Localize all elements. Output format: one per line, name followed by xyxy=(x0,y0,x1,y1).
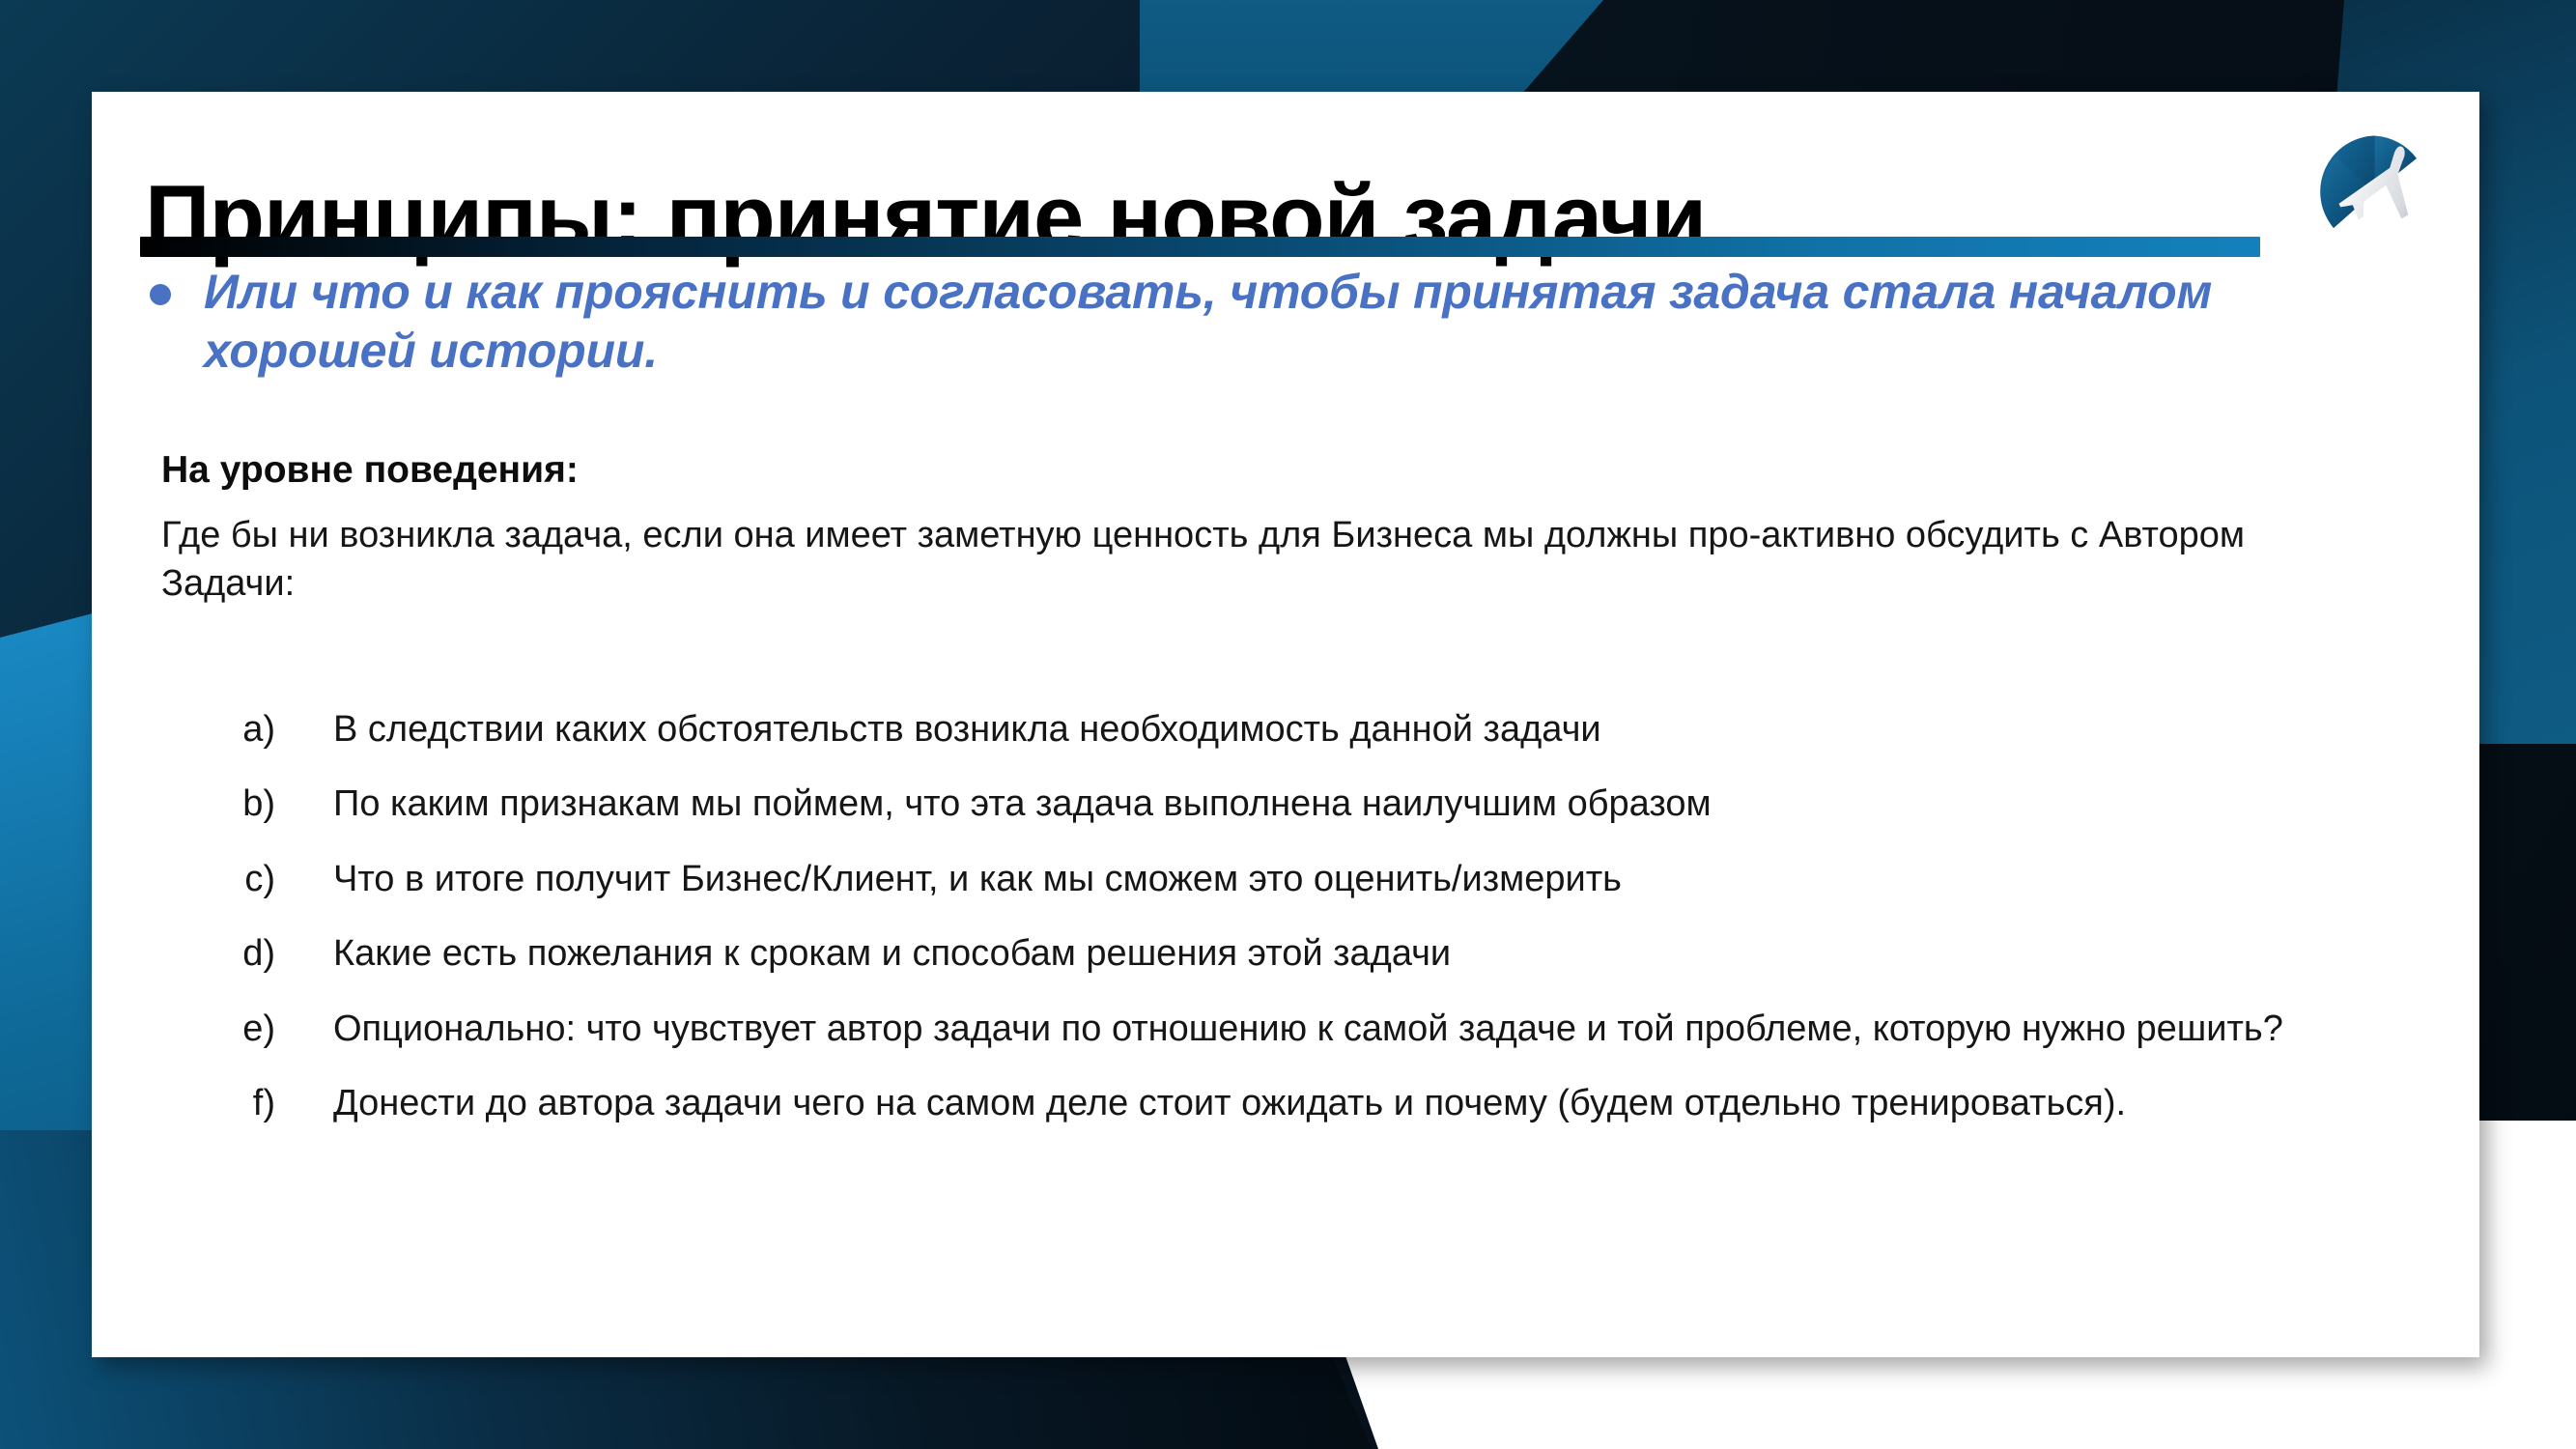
list-item-text: По каким признакам мы поймем, что эта за… xyxy=(275,781,2371,828)
list-item: c) Что в итоге получит Бизнес/Клиент, и … xyxy=(111,856,2429,903)
list-item: e) Опционально: что чувствует автор зада… xyxy=(111,1006,2429,1053)
list-item-marker: b) xyxy=(111,781,275,828)
lead-paragraph: Где бы ни возникла задача, если она имее… xyxy=(161,511,2383,608)
list-item: b) По каким признакам мы поймем, что эта… xyxy=(111,781,2429,828)
list-item-text: Опционально: что чувствует автор задачи … xyxy=(275,1006,2371,1053)
subtitle-text: Или что и как прояснить и согласовать, ч… xyxy=(204,263,2400,381)
list-item-text: Что в итоге получит Бизнес/Клиент, и как… xyxy=(275,856,2371,903)
list-item-text: Какие есть пожелания к срокам и способам… xyxy=(275,930,2371,978)
section-heading: На уровне поведения: xyxy=(161,449,579,492)
list-item-marker: c) xyxy=(111,856,275,903)
airplane-circle-logo xyxy=(2310,128,2439,256)
subtitle-bullet-row: Или что и как прояснить и согласовать, ч… xyxy=(150,263,2400,381)
list-item-marker: f) xyxy=(111,1080,275,1127)
list-item-text: Донести до автора задачи чего на самом д… xyxy=(275,1080,2371,1127)
ordered-list: a) В следствии каких обстоятельств возни… xyxy=(111,706,2429,1154)
list-item-marker: e) xyxy=(111,1006,275,1053)
title-underline-rule xyxy=(140,237,2260,257)
content-card: Принципы: принятие новой задачи xyxy=(92,92,2479,1357)
list-item: f) Донести до автора задачи чего на само… xyxy=(111,1080,2429,1127)
list-item-marker: d) xyxy=(111,930,275,978)
list-item: a) В следствии каких обстоятельств возни… xyxy=(111,706,2429,753)
list-item-marker: a) xyxy=(111,706,275,753)
bullet-dot-icon xyxy=(150,284,171,305)
slide: Принципы: принятие новой задачи xyxy=(0,0,2576,1449)
list-item-text: В следствии каких обстоятельств возникла… xyxy=(275,706,2371,753)
list-item: d) Какие есть пожелания к срокам и спосо… xyxy=(111,930,2429,978)
